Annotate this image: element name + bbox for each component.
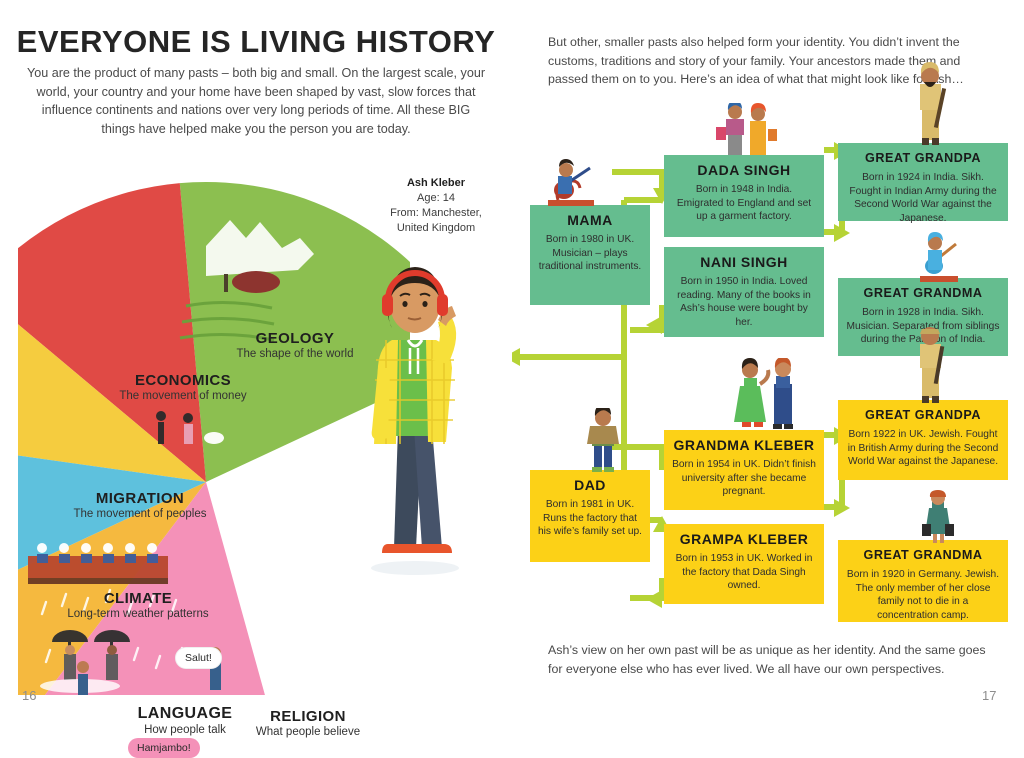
card-body-grampa-kleber: Born in 1953 in UK. Worked in the factor… — [672, 552, 816, 593]
figure-great-grandpa-kleber-soldier-icon — [910, 320, 950, 404]
book-spread: EVERYONE IS LIVING HISTORY You are the p… — [0, 0, 1024, 723]
card-body-dada-singh: Born in 1948 in India. Emigrated to Engl… — [672, 183, 816, 224]
fan-label-religion: RELIGION What people believe — [228, 708, 388, 738]
figure-dad-icon — [578, 408, 626, 474]
card-body-great-grandpa-kleber: Born 1922 in UK. Jewish. Fought in Briti… — [846, 428, 1000, 469]
family-tree: MAMA Born in 1980 in UK. Musician – play… — [512, 0, 1024, 723]
card-title-great-grandpa-singh: GREAT GRANDPA — [846, 149, 1000, 168]
ash-profile: Ash Kleber Age: 14 From: Manchester, Uni… — [372, 176, 500, 236]
card-body-mama: Born in 1980 in UK. Musician – plays tra… — [538, 233, 642, 274]
card-mama[interactable]: MAMA Born in 1980 in UK. Musician – play… — [530, 205, 650, 305]
fan-svg — [10, 150, 410, 695]
card-dada-singh[interactable]: DADA SINGH Born in 1948 in India. Emigra… — [664, 155, 824, 237]
card-body-great-grandma-kleber: Born in 1920 in Germany. Jewish. The onl… — [846, 568, 1000, 622]
fan-label-language: LANGUAGE How people talk — [115, 705, 255, 736]
card-title-great-grandma-kleber: GREAT GRANDMA — [846, 546, 1000, 565]
right-page: But other, smaller pasts also helped for… — [512, 0, 1024, 723]
card-title-mama: MAMA — [538, 211, 642, 230]
ash-illustration — [352, 248, 478, 578]
card-great-grandpa-singh[interactable]: GREAT GRANDPA Born in 1924 in India. Sik… — [838, 143, 1008, 221]
card-body-nani-singh: Born in 1950 in India. Loved reading. Ma… — [672, 275, 816, 329]
card-great-grandma-kleber[interactable]: GREAT GRANDMA Born in 1920 in Germany. J… — [838, 540, 1008, 622]
fan-title-language: LANGUAGE — [115, 705, 255, 723]
forces-fan-diagram: GEOLOGY The shape of the world ECONOMICS… — [10, 150, 410, 695]
figure-mama-sitar-icon — [542, 158, 602, 208]
card-body-great-grandpa-singh: Born in 1924 in India. Sikh. Fought in I… — [846, 171, 1000, 225]
card-title-grandma-kleber: GRANDMA KLEBER — [672, 436, 816, 455]
fan-title-religion: RELIGION — [228, 708, 388, 725]
card-title-dada-singh: DADA SINGH — [672, 161, 816, 180]
speech-bubble-salut: Salut! — [175, 647, 222, 669]
card-title-grampa-kleber: GRAMPA KLEBER — [672, 530, 816, 549]
figure-dada-nani-pair-icon — [710, 103, 780, 157]
right-outro-paragraph: Ash’s view on her own past will be as un… — [548, 641, 988, 678]
card-title-great-grandma-singh: GREAT GRANDMA — [846, 284, 1000, 303]
fan-subtitle-religion: What people believe — [228, 726, 388, 738]
card-grandma-kleber[interactable]: GRANDMA KLEBER Born in 1954 in UK. Didn’… — [664, 430, 824, 510]
ash-age: Age: 14 — [372, 191, 500, 206]
card-title-nani-singh: NANI SINGH — [672, 253, 816, 272]
left-intro-paragraph: You are the product of many pasts – both… — [26, 64, 486, 138]
page-title: EVERYONE IS LIVING HISTORY — [0, 24, 512, 60]
speech-bubble-hamjambo: Hamjambo! — [128, 738, 200, 758]
card-body-dad: Born in 1981 in UK. Runs the factory tha… — [538, 498, 642, 539]
card-title-dad: DAD — [538, 476, 642, 495]
figure-great-grandma-kleber-icon — [916, 490, 960, 546]
ash-from-line2: United Kingdom — [372, 221, 500, 236]
card-nani-singh[interactable]: NANI SINGH Born in 1950 in India. Loved … — [664, 247, 824, 337]
figure-great-grandpa-singh-soldier-icon — [910, 60, 950, 146]
page-number-right: 17 — [982, 688, 996, 703]
left-page: EVERYONE IS LIVING HISTORY You are the p… — [0, 0, 512, 723]
figure-great-grandma-singh-musician-icon — [916, 230, 962, 284]
card-dad[interactable]: DAD Born in 1981 in UK. Runs the factory… — [530, 470, 650, 562]
card-grampa-kleber[interactable]: GRAMPA KLEBER Born in 1953 in UK. Worked… — [664, 524, 824, 604]
ash-from-line1: From: Manchester, — [372, 206, 500, 221]
card-title-great-grandpa-kleber: GREAT GRANDPA — [846, 406, 1000, 425]
figure-grandma-grampa-kleber-pair-icon — [724, 358, 800, 432]
fan-subtitle-language: How people talk — [115, 724, 255, 736]
card-body-grandma-kleber: Born in 1954 in UK. Didn’t finish univer… — [672, 458, 816, 499]
card-great-grandpa-kleber[interactable]: GREAT GRANDPA Born 1922 in UK. Jewish. F… — [838, 400, 1008, 480]
page-number-left: 16 — [22, 688, 36, 703]
ash-name: Ash Kleber — [372, 176, 500, 191]
